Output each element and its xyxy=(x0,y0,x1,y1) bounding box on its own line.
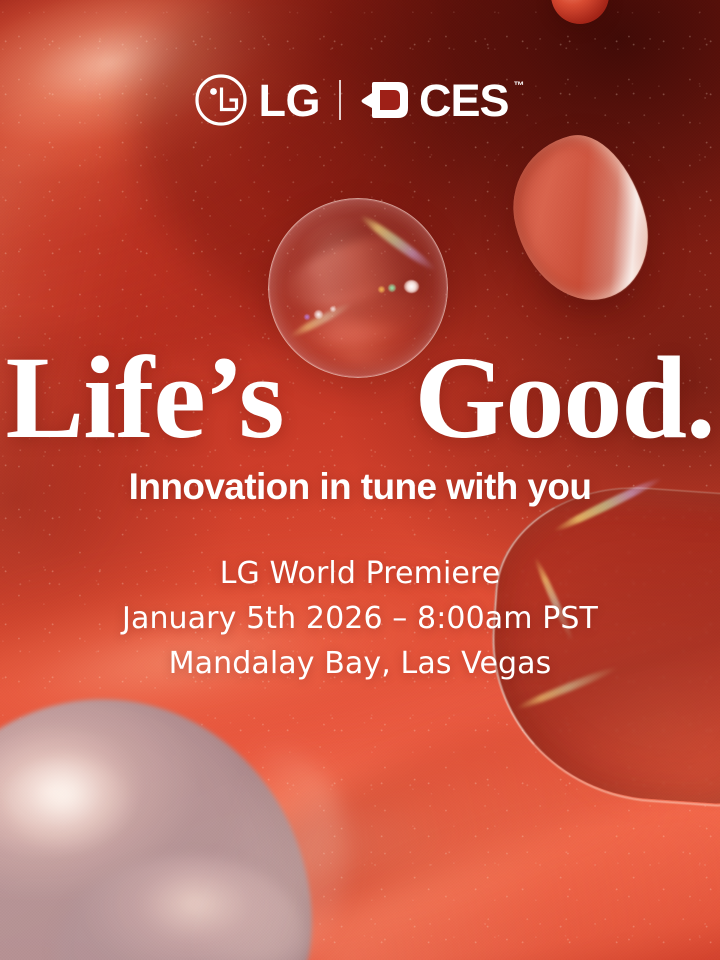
logo-lockup-bar: LG CES ™ xyxy=(0,74,720,126)
headline-part-1: Life’s xyxy=(6,332,284,463)
lg-ces-2026-promo-poster: LG CES ™ Life’s Good. Innovation in tune… xyxy=(0,0,720,960)
event-details: LG World Premiere January 5th 2026 – 8:0… xyxy=(0,551,720,686)
event-datetime: January 5th 2026 – 8:00am PST xyxy=(0,596,720,641)
ces-logo-lockup: CES ™ xyxy=(360,78,525,123)
event-title: LG World Premiere xyxy=(0,551,720,596)
lg-wordmark: LG xyxy=(258,78,320,123)
tagline: Innovation in tune with you xyxy=(0,467,720,508)
ces-wordmark: CES xyxy=(419,78,509,123)
lg-logo-lockup: LG xyxy=(195,74,320,126)
ces-trademark-symbol: ™ xyxy=(514,80,525,92)
logo-divider xyxy=(339,80,341,120)
lg-circle-face-logo xyxy=(195,74,247,126)
ces-speech-bubble-logo xyxy=(360,78,410,122)
headline-part-2: Good. xyxy=(415,332,715,463)
event-venue: Mandalay Bay, Las Vegas xyxy=(0,641,720,686)
poster-content: LG CES ™ Life’s Good. Innovation in tune… xyxy=(0,0,720,960)
page-title: Life’s Good. xyxy=(0,339,720,457)
